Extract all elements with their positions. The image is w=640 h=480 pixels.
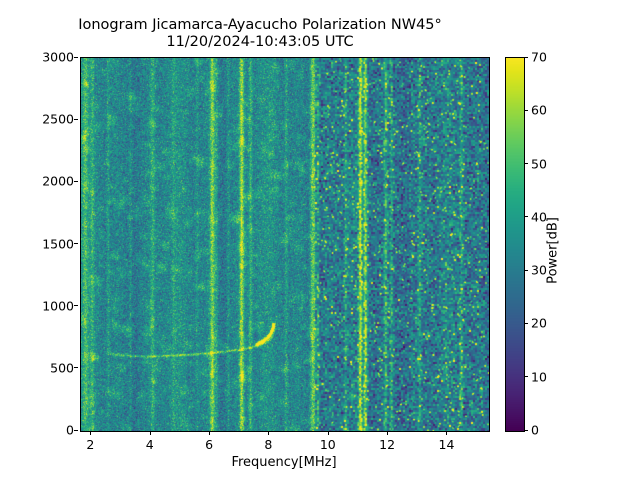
y-tick-label: 2500	[42, 112, 74, 127]
y-tick-label: 0	[66, 423, 74, 438]
x-tick-label: 2	[86, 437, 94, 452]
y-tick-label: 500	[50, 360, 74, 375]
x-axis-ticks: 2468101214	[80, 431, 488, 457]
ionogram-plot-area	[80, 57, 490, 432]
x-tick-label: 12	[379, 437, 395, 452]
colorbar-gradient	[506, 58, 524, 431]
ionogram-heatmap	[81, 58, 489, 431]
x-axis-label: Frequency[MHz]	[80, 455, 488, 470]
colorbar-tick-label: 10	[531, 369, 547, 384]
y-tick-mark	[74, 181, 78, 182]
colorbar-tick-label: 60	[531, 103, 547, 118]
y-axis-ticks: 050010001500200025003000	[0, 57, 74, 430]
y-tick-label: 1500	[42, 236, 74, 251]
colorbar-tick-label: 0	[531, 423, 539, 438]
colorbar-label: Power[dB]	[546, 151, 561, 351]
x-tick-mark	[150, 431, 151, 435]
y-tick-label: 1000	[42, 298, 74, 313]
x-tick-mark	[268, 431, 269, 435]
colorbar-tick-mark	[524, 110, 528, 111]
y-tick-mark	[74, 430, 78, 431]
x-tick-mark	[209, 431, 210, 435]
y-tick-mark	[74, 367, 78, 368]
x-tick-mark	[328, 431, 329, 435]
x-tick-mark	[446, 431, 447, 435]
figure-title: Ionogram Jicamarca-Ayacucho Polarization…	[0, 17, 520, 51]
y-tick-mark	[74, 119, 78, 120]
colorbar-tick-mark	[524, 323, 528, 324]
colorbar-tick-mark	[524, 163, 528, 164]
y-tick-label: 2000	[42, 174, 74, 189]
ionogram-figure: Ionogram Jicamarca-Ayacucho Polarization…	[0, 0, 640, 480]
y-tick-mark	[74, 243, 78, 244]
x-tick-label: 4	[146, 437, 154, 452]
colorbar-tick-mark	[524, 376, 528, 377]
y-tick-mark	[74, 57, 78, 58]
colorbar-tick-mark	[524, 270, 528, 271]
y-tick-mark	[74, 305, 78, 306]
x-tick-mark	[90, 431, 91, 435]
x-tick-label: 8	[264, 437, 272, 452]
colorbar	[505, 57, 525, 432]
colorbar-tick-label: 70	[531, 50, 547, 65]
x-tick-mark	[387, 431, 388, 435]
colorbar-tick-mark	[524, 57, 528, 58]
x-tick-label: 6	[205, 437, 213, 452]
x-tick-label: 10	[320, 437, 336, 452]
colorbar-tick-mark	[524, 430, 528, 431]
y-tick-label: 3000	[42, 50, 74, 65]
x-tick-label: 14	[439, 437, 455, 452]
colorbar-tick-mark	[524, 216, 528, 217]
